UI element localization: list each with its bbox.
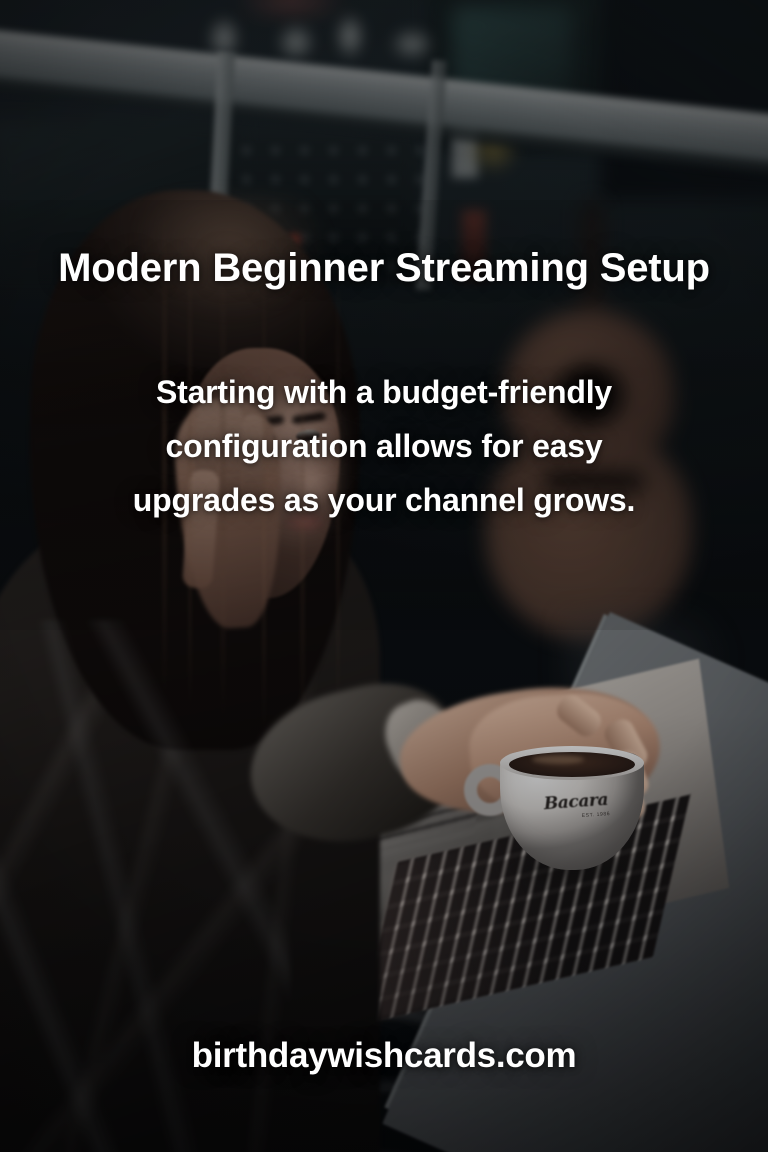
- pin-subheadline: Starting with a budget-friendly configur…: [104, 366, 664, 527]
- pin-headline: Modern Beginner Streaming Setup: [56, 245, 712, 291]
- pinterest-pin: Bacara EST. 1986 Modern Beginner Streami…: [0, 0, 768, 1152]
- site-url-label: birthdaywishcards.com: [0, 1036, 768, 1076]
- background-photo: Bacara EST. 1986: [0, 0, 768, 1152]
